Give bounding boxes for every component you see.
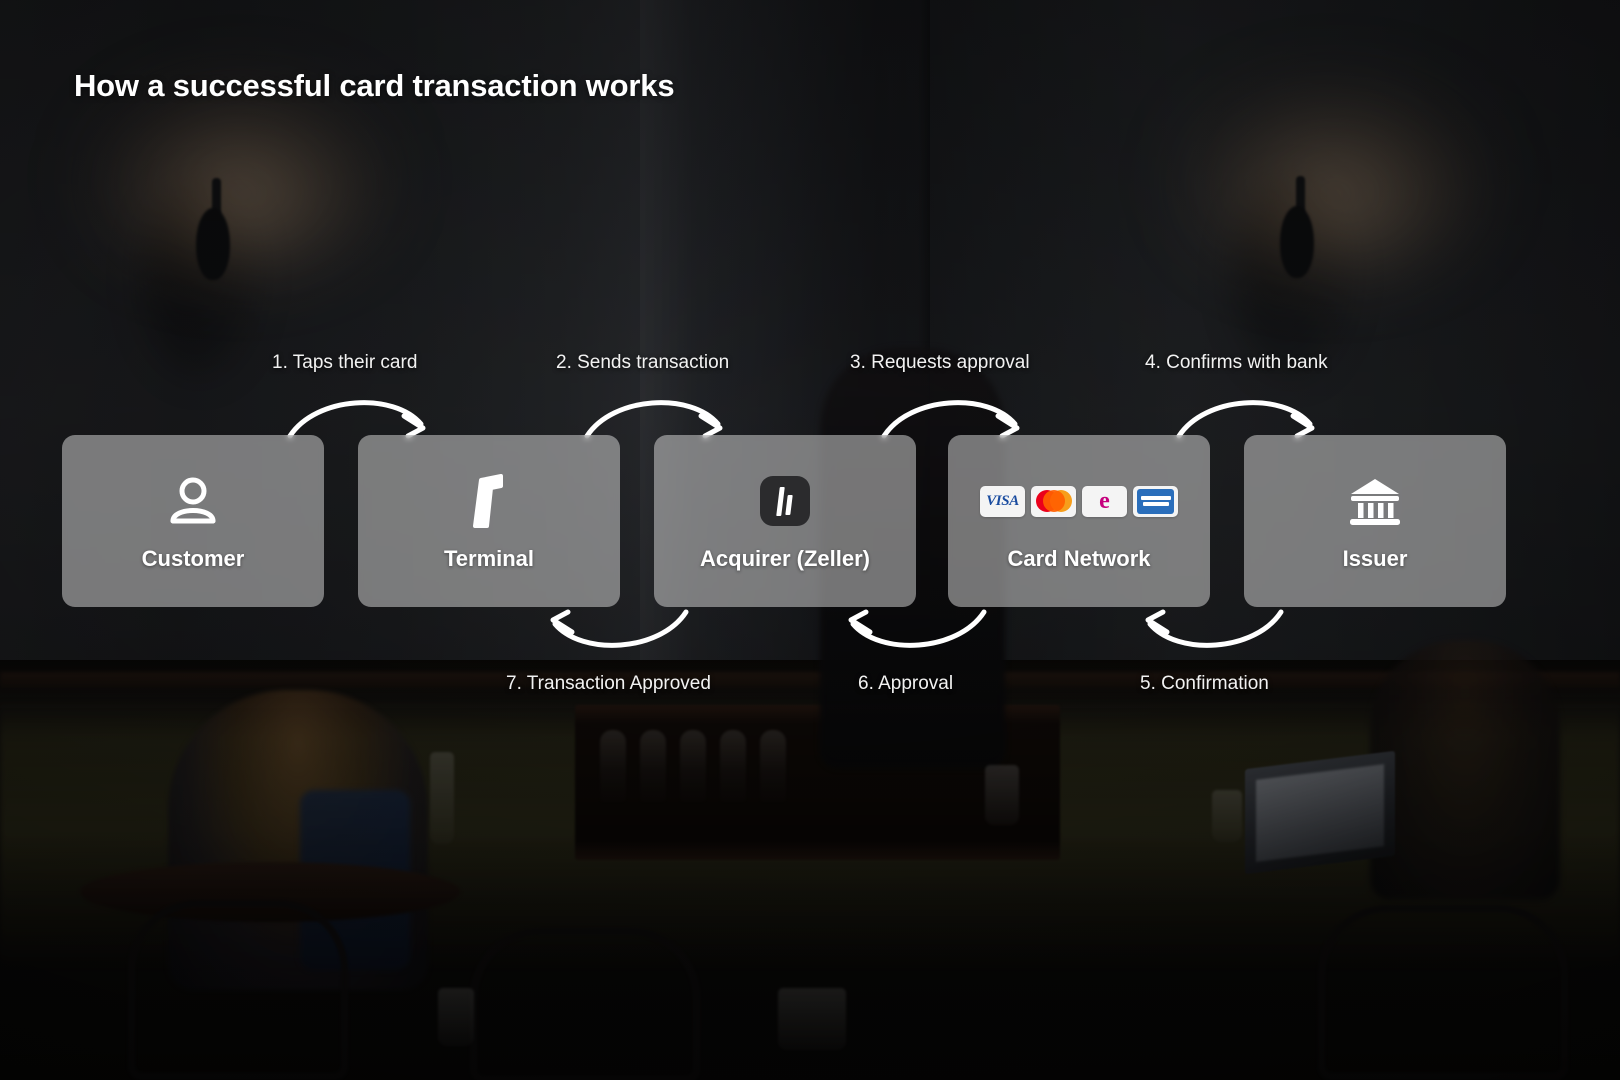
step-label-1: 1. Taps their card [272,352,417,374]
card-brand-logos: VISA e [980,470,1178,532]
zeller-bar [776,487,785,516]
step-label-4: 4. Confirms with bank [1145,352,1328,374]
node-label-customer: Customer [142,546,245,572]
visa-logo-icon: VISA [980,486,1025,517]
arrow-step-3 [880,388,1030,440]
arrow-step-5 [1135,608,1285,660]
node-label-terminal: Terminal [444,546,534,572]
visa-logo-text: VISA [986,493,1019,510]
node-acquirer[interactable]: Acquirer (Zeller) [654,435,916,607]
zeller-bar [785,495,792,515]
node-issuer[interactable]: Issuer [1244,435,1506,607]
arrow-step-6 [838,608,988,660]
step-label-3: 3. Requests approval [850,352,1030,374]
step-label-7: 7. Transaction Approved [506,673,711,695]
bank-icon [1346,470,1404,532]
arrow-step-2 [583,388,733,440]
node-label-issuer: Issuer [1343,546,1408,572]
amex-logo-icon [1133,486,1178,517]
arrow-step-1 [286,388,436,440]
node-label-card-network: Card Network [1007,546,1150,572]
step-label-2: 2. Sends transaction [556,352,729,374]
node-label-acquirer: Acquirer (Zeller) [700,546,870,572]
arrow-step-4 [1175,388,1325,440]
step-label-6: 6. Approval [858,673,953,695]
mastercard-logo-icon [1031,486,1076,517]
zeller-logo-icon [760,470,810,532]
person-icon [165,470,221,532]
diagram-canvas: How a successful card transaction works … [0,0,1620,1080]
node-terminal[interactable]: Terminal [358,435,620,607]
eftpos-logo-icon: e [1082,486,1127,517]
step-label-5: 5. Confirmation [1140,673,1269,695]
node-customer[interactable]: Customer [62,435,324,607]
arrow-step-7 [540,608,690,660]
node-card-network[interactable]: VISA e [948,435,1210,607]
page-title: How a successful card transaction works [74,68,674,104]
payment-terminal-icon [461,470,517,532]
